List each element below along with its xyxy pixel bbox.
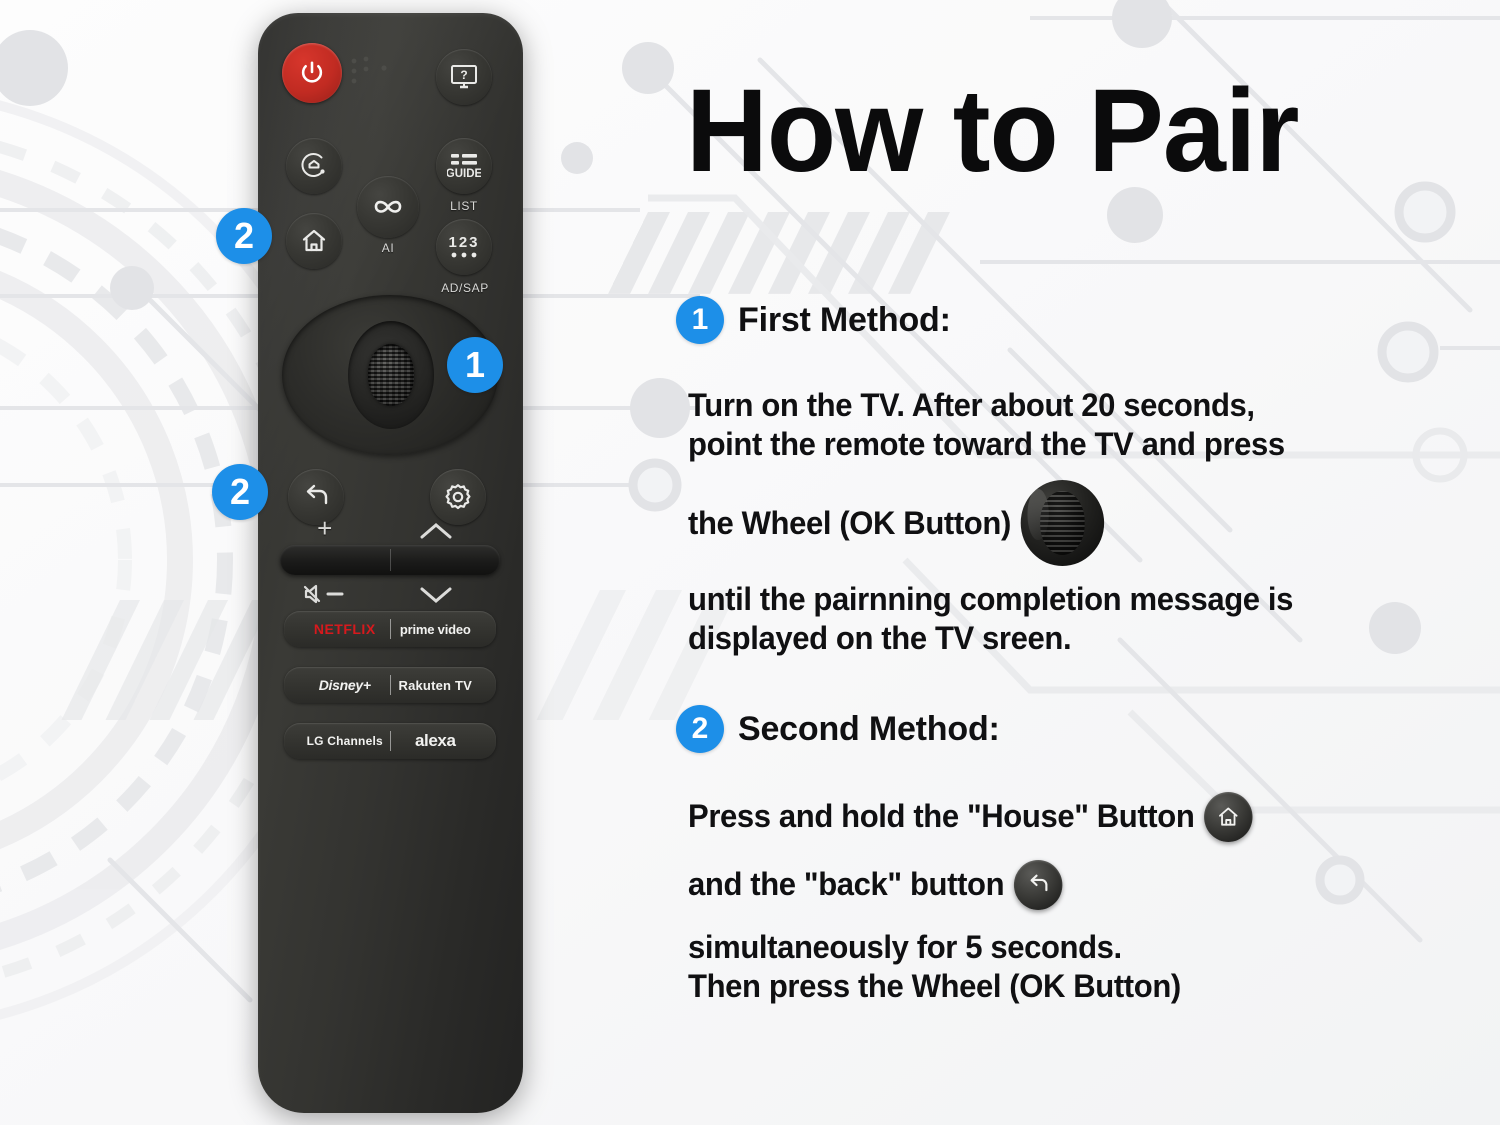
gear-icon <box>443 482 473 512</box>
step-1-line-1-text: Turn on the TV. After about 20 seconds, <box>688 386 1255 425</box>
power-button[interactable] <box>282 43 342 103</box>
home-button-thumbnail <box>1204 792 1253 842</box>
step-1-line-3-text: the Wheel (OK Button) <box>688 504 1011 543</box>
list-label: LIST <box>433 199 495 213</box>
callout-badge-2-back: 2 <box>212 464 268 520</box>
lg-channels-label[interactable]: LG Channels <box>300 734 390 748</box>
ai-label: AI <box>357 241 419 255</box>
volume-up-label: + <box>310 518 340 538</box>
app-row-disney-rakuten[interactable]: Disney+ Rakuten TV <box>284 667 496 703</box>
app-row-lgchannels-alexa[interactable]: LG Channels alexa <box>284 723 496 759</box>
back-arrow-icon <box>1026 874 1051 896</box>
guide-icon: GUIDE <box>447 151 481 181</box>
step-1-line-5-text: displayed on the TV sreen. <box>688 619 1071 658</box>
back-button[interactable] <box>288 469 344 525</box>
home-icon <box>1216 805 1241 829</box>
ai-button[interactable] <box>357 176 419 238</box>
step-1-line-5: displayed on the TV sreen. <box>688 619 1293 658</box>
lg-magic-remote: ? GUIDE <box>258 13 523 1113</box>
settings-button[interactable] <box>430 469 486 525</box>
ai-infinity-icon <box>371 192 405 222</box>
step-1-badge: 1 <box>676 296 724 344</box>
svg-text:?: ? <box>460 68 467 82</box>
step-1-line-2-text: point the remote toward the TV and press <box>688 425 1285 464</box>
wheel-ok-button-thumbnail <box>1021 480 1104 566</box>
step-2-line-3: simultaneously for 5 seconds. <box>688 928 1253 967</box>
step-2-body: Press and hold the "House" Button and th… <box>688 792 1253 1006</box>
prime-video-label[interactable]: prime video <box>391 622 481 637</box>
step-1-header: 1 First Method: <box>676 296 951 344</box>
step-1-heading: First Method: <box>738 301 951 340</box>
step-2-line-1: Press and hold the "House" Button <box>688 792 1253 842</box>
step-2-line-2: and the "back" button <box>688 860 1253 910</box>
step-2-line-2-text: and the "back" button <box>688 865 1004 904</box>
step-2-line-1-text: Press and hold the "House" Button <box>688 797 1194 836</box>
callout-badge-1-wheel: 1 <box>447 337 503 393</box>
app-row-netflix-prime[interactable]: NETFLIX prime video <box>284 611 496 647</box>
channel-down-icon[interactable] <box>418 585 454 605</box>
quick-settings-button[interactable] <box>286 138 342 194</box>
step-1-body: Turn on the TV. After about 20 seconds, … <box>688 386 1293 658</box>
step-2-line-3-text: simultaneously for 5 seconds. <box>688 928 1122 967</box>
home-button[interactable] <box>286 213 342 269</box>
step-1-line-2: point the remote toward the TV and press <box>688 425 1293 464</box>
home-icon <box>299 227 329 255</box>
microphone-dots <box>348 55 394 93</box>
step-2-badge: 2 <box>676 705 724 753</box>
page-title: How to Pair <box>686 72 1299 190</box>
step-2-heading: Second Method: <box>738 710 1000 749</box>
back-arrow-icon <box>301 484 331 510</box>
svg-text:123: 123 <box>448 234 479 251</box>
back-button-thumbnail <box>1014 860 1063 910</box>
ad-sap-label: AD/SAP <box>428 281 502 295</box>
power-icon <box>298 59 326 87</box>
netflix-label[interactable]: NETFLIX <box>300 621 390 637</box>
step-1-line-4-text: until the pairnning completion message i… <box>688 580 1293 619</box>
poster-canvas: ? GUIDE <box>0 0 1500 1125</box>
scroll-wheel[interactable] <box>368 344 414 406</box>
numbers-123-icon: 123 <box>446 232 482 262</box>
guide-button[interactable]: GUIDE <box>436 138 492 194</box>
tv-question-icon: ? <box>449 64 479 90</box>
step-1-line-1: Turn on the TV. After about 20 seconds, <box>688 386 1293 425</box>
step-2-line-4-text: Then press the Wheel (OK Button) <box>688 967 1181 1006</box>
step-1-line-3: the Wheel (OK Button) <box>688 480 1293 566</box>
disney-plus-label[interactable]: Disney+ <box>300 677 390 693</box>
step-1-line-4: until the pairnning completion message i… <box>688 580 1293 619</box>
numbers-button[interactable]: 123 <box>436 219 492 275</box>
rakuten-tv-label[interactable]: Rakuten TV <box>391 678 481 693</box>
orb-icon <box>299 151 329 181</box>
tv-help-button[interactable]: ? <box>436 49 492 105</box>
volume-channel-rocker[interactable] <box>280 545 500 575</box>
step-2-line-4: Then press the Wheel (OK Button) <box>688 967 1253 1006</box>
channel-up-icon[interactable] <box>418 521 454 541</box>
alexa-label[interactable]: alexa <box>391 731 481 751</box>
step-2-header: 2 Second Method: <box>676 705 1000 753</box>
guide-label: GUIDE <box>447 168 481 180</box>
callout-badge-2-home: 2 <box>216 208 272 264</box>
mute-icon[interactable] <box>302 583 356 605</box>
wheel-ok-button[interactable] <box>348 321 434 429</box>
